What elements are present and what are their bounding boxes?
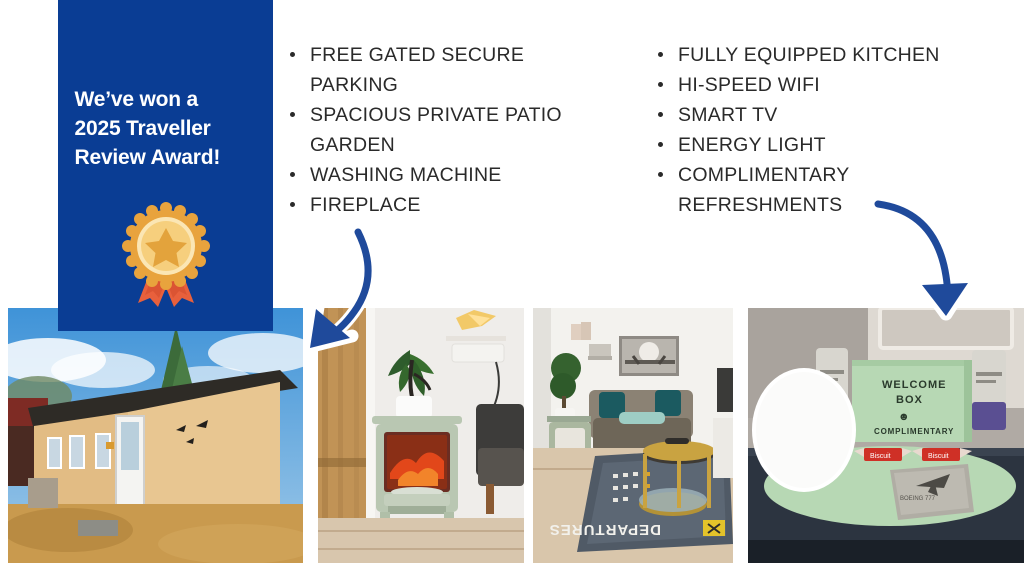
features-column-left: FREE GATED SECURE PARKING SPACIOUS PRIVA…	[288, 40, 598, 255]
features-list-left: FREE GATED SECURE PARKING SPACIOUS PRIVA…	[288, 40, 598, 220]
feature-item: FIREPLACE	[288, 190, 598, 220]
feature-label: FIREPLACE	[310, 194, 421, 216]
award-heading-line-3: Review Award!	[75, 143, 257, 172]
award-heading-line-2: 2025 Traveller	[75, 114, 257, 143]
feature-item: FREE GATED SECURE PARKING	[288, 40, 598, 100]
box-line-3: ☻	[898, 411, 910, 423]
feature-item: ENERGY LIGHT	[656, 130, 986, 160]
award-medal-icon	[120, 202, 212, 310]
snack-label: Biscuit	[928, 453, 949, 460]
snack-label: Biscuit	[870, 453, 891, 460]
bullet-dot-icon	[658, 172, 663, 177]
promo-collage: We’ve won a 2025 Traveller Review Award!	[0, 0, 1024, 576]
feature-item: SMART TV	[656, 100, 986, 130]
award-heading: We’ve won a 2025 Traveller Review Award!	[75, 85, 257, 172]
bullet-dot-icon	[658, 142, 663, 147]
feature-item: WASHING MACHINE	[288, 160, 598, 190]
box-line-4: COMPLIMENTARY	[874, 427, 954, 436]
features-list-right: FULLY EQUIPPED KITCHEN HI-SPEED WIFI SMA…	[656, 40, 986, 220]
welcome-box-photo: WELCOME BOX ☻ COMPLIMENTARY Biscuit Bisc…	[748, 308, 1024, 563]
feature-label: HI-SPEED WIFI	[678, 74, 820, 96]
living-room-photo: DEPARTURES	[533, 308, 733, 563]
feature-item: SPACIOUS PRIVATE PATIO GARDEN	[288, 100, 598, 160]
photo-strip: DEPARTURES	[0, 308, 1024, 563]
feature-label: WASHING MACHINE	[310, 164, 502, 186]
feature-item: FULLY EQUIPPED KITCHEN	[656, 40, 986, 70]
bullet-dot-icon	[290, 202, 295, 207]
bullet-dot-icon	[290, 172, 295, 177]
bullet-dot-icon	[290, 112, 295, 117]
feature-label: ENERGY LIGHT	[678, 134, 826, 156]
bullet-dot-icon	[658, 82, 663, 87]
feature-label: FULLY EQUIPPED KITCHEN	[678, 44, 940, 66]
bullet-dot-icon	[658, 112, 663, 117]
box-line-1: WELCOME	[882, 379, 946, 391]
feature-label: FREE GATED SECURE PARKING	[310, 44, 524, 96]
features-column-right: FULLY EQUIPPED KITCHEN HI-SPEED WIFI SMA…	[656, 40, 986, 255]
bullet-dot-icon	[290, 52, 295, 57]
feature-label: COMPLIMENTARY REFRESHMENTS	[678, 164, 849, 216]
bullet-dot-icon	[658, 52, 663, 57]
notebook-text: BOEING 777	[900, 496, 936, 502]
award-panel: We’ve won a 2025 Traveller Review Award!	[58, 0, 273, 331]
rug-text: DEPARTURES	[549, 521, 661, 538]
box-line-2: BOX	[896, 394, 923, 406]
fireplace-photo	[318, 308, 524, 563]
feature-item: HI-SPEED WIFI	[656, 70, 986, 100]
feature-label: SPACIOUS PRIVATE PATIO GARDEN	[310, 104, 562, 156]
exterior-bungalow-photo	[8, 308, 303, 563]
award-heading-line-1: We’ve won a	[75, 85, 257, 114]
feature-label: SMART TV	[678, 104, 778, 126]
feature-item: COMPLIMENTARY REFRESHMENTS	[656, 160, 986, 220]
features-section: FREE GATED SECURE PARKING SPACIOUS PRIVA…	[288, 40, 988, 255]
